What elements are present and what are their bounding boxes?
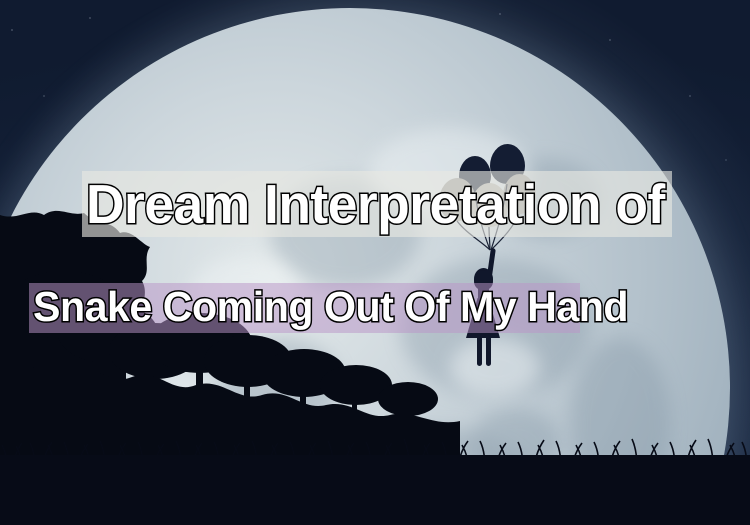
ground-silhouette — [0, 455, 750, 525]
page-title-line2: Snake Coming Out Of My Hand — [33, 284, 628, 330]
dream-interpretation-banner: Dream Interpretation of Snake Coming Out… — [0, 0, 750, 525]
girl-leg-left — [477, 336, 482, 366]
girl-leg-right — [486, 336, 491, 366]
page-title-line1: Dream Interpretation of — [86, 174, 665, 234]
